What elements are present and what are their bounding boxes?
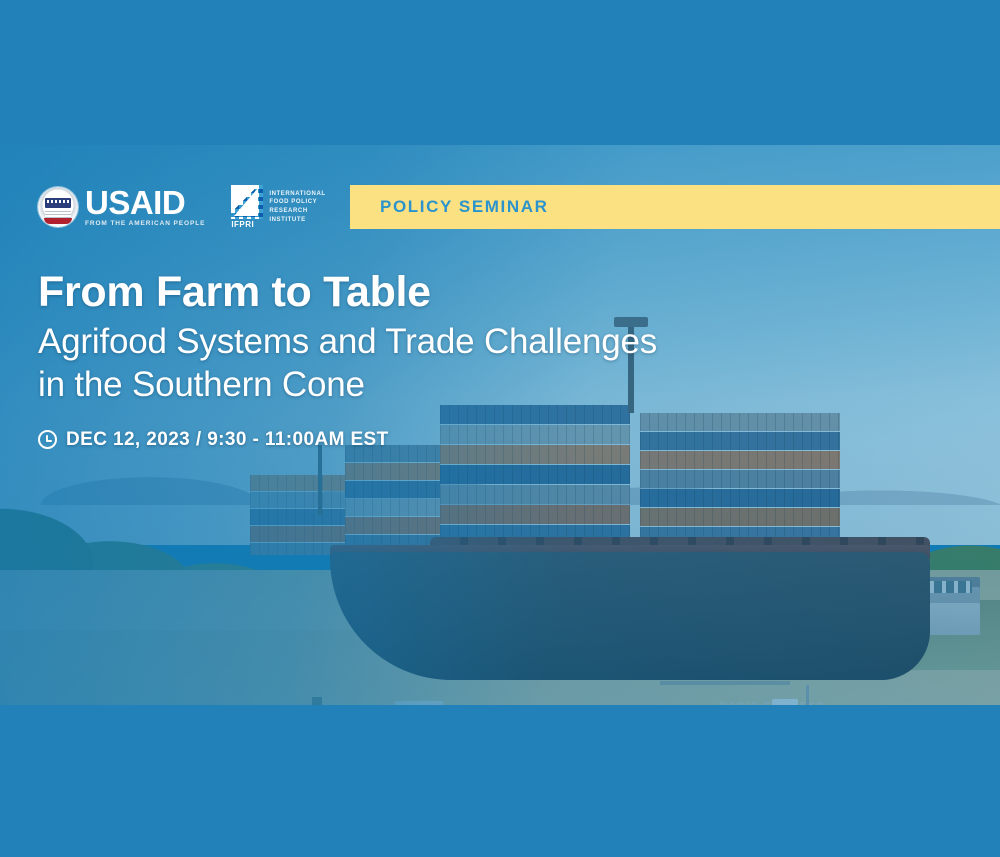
usaid-seal-icon: [38, 187, 78, 227]
event-datetime: DEC 12, 2023 / 9:30 - 11:00AM EST: [38, 429, 898, 451]
event-subtitle-line-2: in the Southern Cone: [38, 364, 898, 407]
event-title: From Farm to Table: [38, 270, 898, 315]
page-root: PARIS EXPRESS POLICY SEMINAR: [0, 0, 1000, 857]
usaid-logo[interactable]: USAID FROM THE AMERICAN PEOPLE: [38, 186, 205, 228]
ifpri-line-1: INTERNATIONAL: [269, 190, 325, 199]
event-datetime-text: DEC 12, 2023 / 9:30 - 11:00AM EST: [66, 429, 389, 451]
ifpri-line-2: FOOD POLICY: [269, 198, 325, 207]
usaid-wordmark: USAID: [85, 186, 205, 219]
clock-icon: [38, 430, 57, 449]
ifpri-wordmark: INTERNATIONAL FOOD POLICY RESEARCH INSTI…: [269, 190, 325, 225]
event-banner: PARIS EXPRESS POLICY SEMINAR: [0, 145, 1000, 705]
ifpri-line-3: RESEARCH: [269, 207, 325, 216]
logo-group: USAID FROM THE AMERICAN PEOPLE IFPRI INT…: [0, 185, 326, 229]
event-text-block: From Farm to Table Agrifood Systems and …: [38, 270, 898, 451]
usaid-wordmark-block: USAID FROM THE AMERICAN PEOPLE: [85, 186, 205, 228]
ifpri-mark-icon: IFPRI: [231, 185, 263, 229]
ifpri-line-4: INSTITUTE: [269, 216, 325, 225]
usaid-tagline: FROM THE AMERICAN PEOPLE: [85, 221, 205, 228]
ifpri-logo[interactable]: IFPRI INTERNATIONAL FOOD POLICY RESEARCH…: [231, 185, 325, 229]
ifpri-abbr: IFPRI: [231, 220, 254, 229]
banner-header-row: USAID FROM THE AMERICAN PEOPLE IFPRI INT…: [0, 177, 1000, 237]
event-subtitle-line-1: Agrifood Systems and Trade Challenges: [38, 321, 898, 364]
